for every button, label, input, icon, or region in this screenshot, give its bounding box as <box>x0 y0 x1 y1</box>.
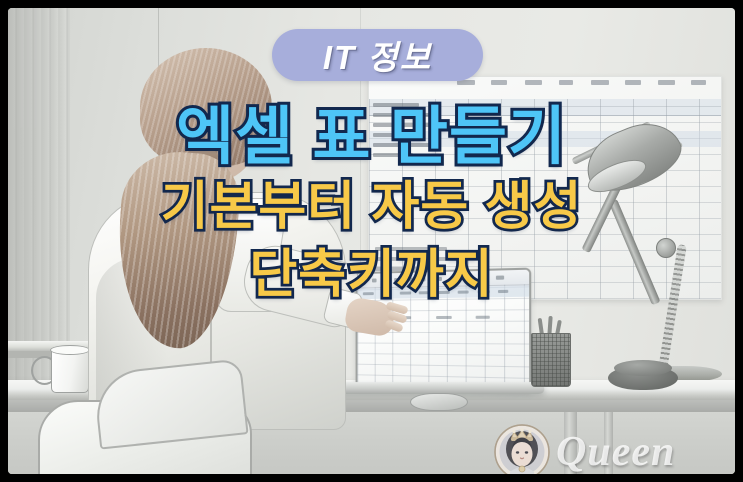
category-badge: IT 정보 <box>272 29 483 81</box>
category-badge-label: IT 정보 <box>323 31 432 79</box>
whiteboard-spreadsheet <box>368 76 722 300</box>
speaker-puck-top <box>614 360 672 376</box>
lamp-mid-joint <box>656 238 676 258</box>
spreadsheet-label-block <box>373 103 445 165</box>
pen-holder <box>531 333 571 387</box>
watermark-text: Queen <box>556 431 675 473</box>
image-frame: IT 정보 엑셀 표 만들기 기본부터 자동 생성 단축키까지 <box>0 0 743 482</box>
laptop-spreadsheet-grid <box>357 284 529 390</box>
computer-mouse <box>410 393 468 411</box>
queen-crown-medallion-icon <box>494 424 550 474</box>
watermark: Queen <box>494 424 675 474</box>
scene-canvas: IT 정보 엑셀 표 만들기 기본부터 자동 생성 단축키까지 <box>8 8 735 474</box>
